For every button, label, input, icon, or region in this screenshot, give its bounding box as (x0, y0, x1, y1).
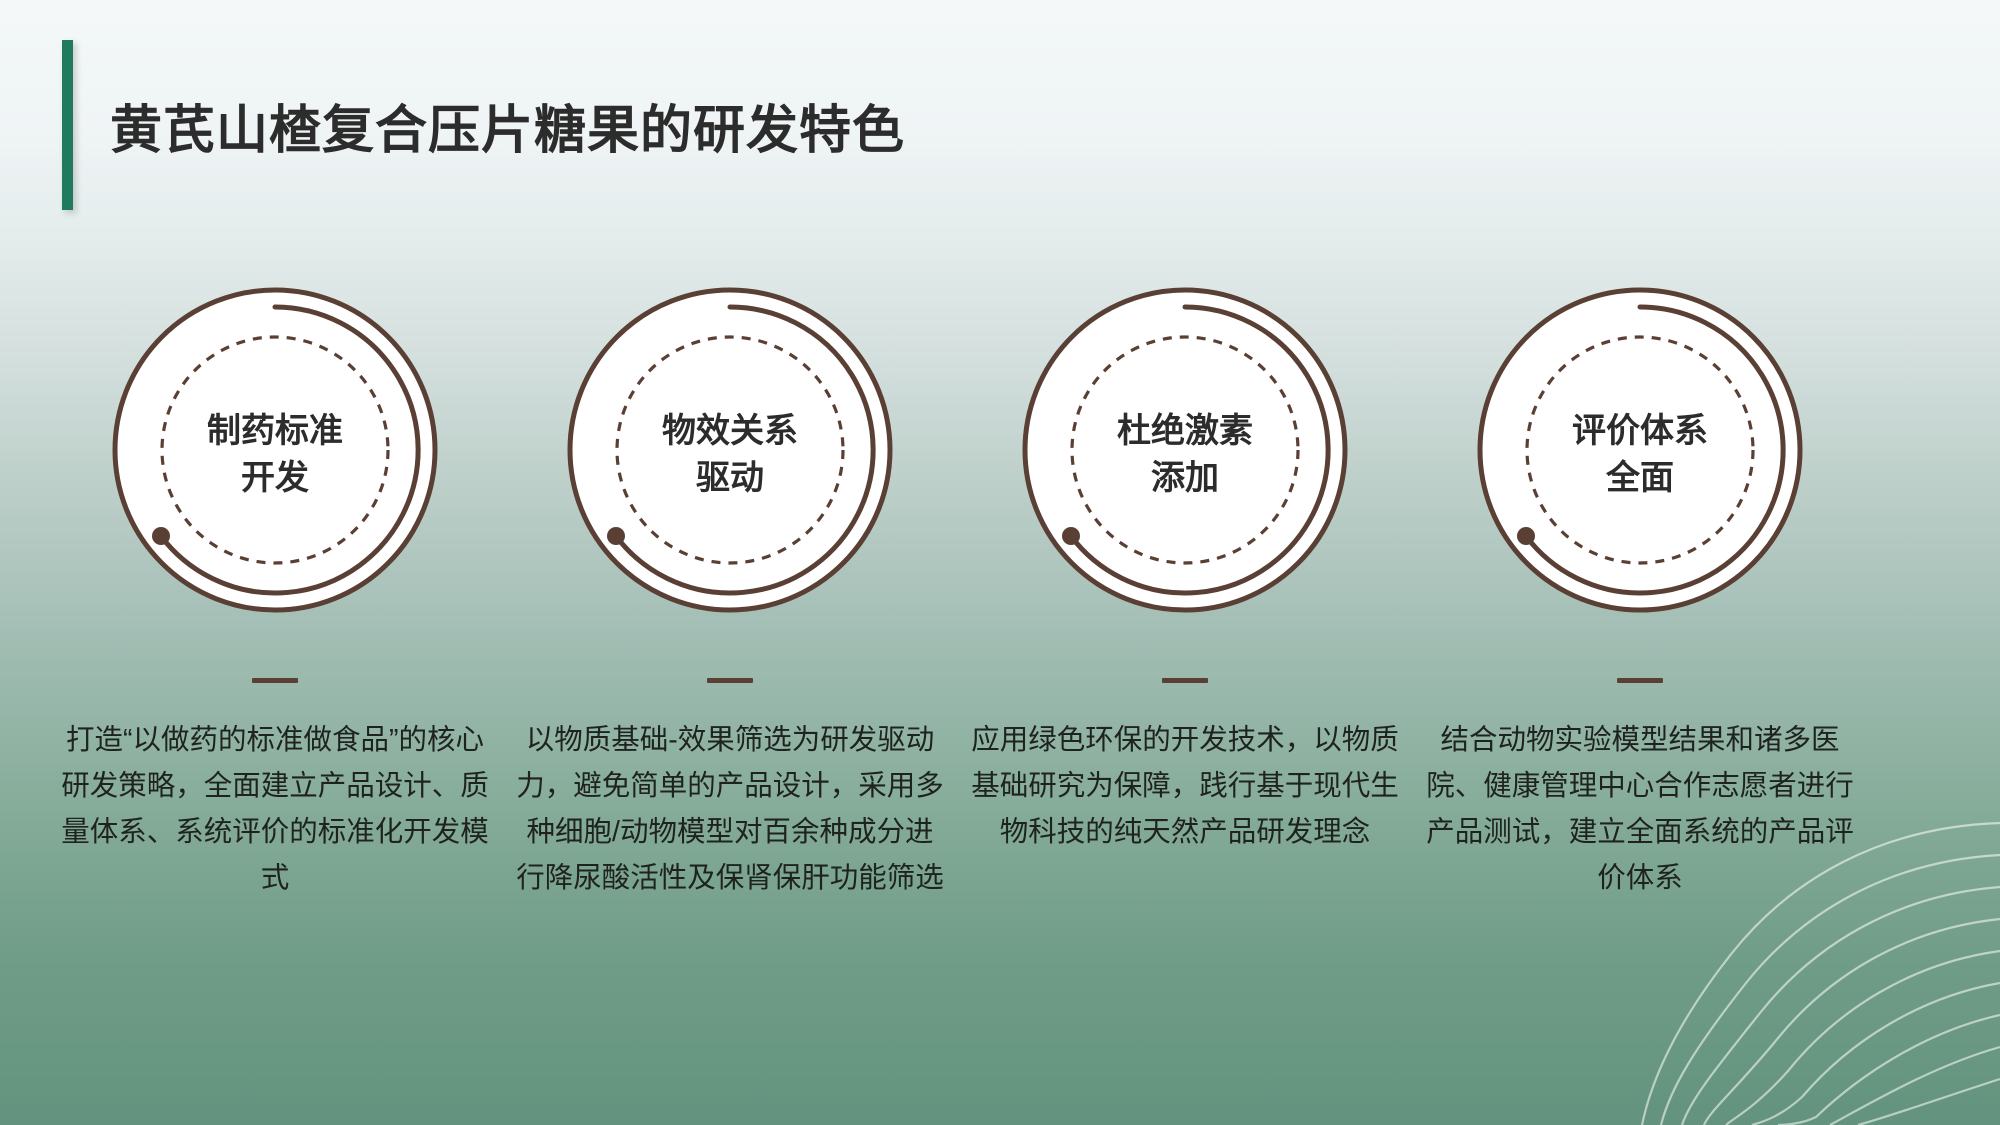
feature-column-2: 物效关系 驱动 以物质基础-效果筛选为研发驱动力，避免简单的产品设计，采用多种细… (510, 280, 950, 902)
feature-description-1: 打造“以做药的标准做食品”的核心研发策略，全面建立产品设计、质量体系、系统评价的… (55, 717, 495, 902)
feature-circle-graphic-3: 杜绝激素 添加 (980, 280, 1390, 640)
feature-column-4: 评价体系 全面 结合动物实验模型结果和诸多医院、健康管理中心合作志愿者进行产品测… (1420, 280, 1860, 902)
concentric-circles-icon (560, 280, 900, 620)
feature-circle-graphic-2: 物效关系 驱动 (525, 280, 935, 640)
feature-circle-graphic-1: 制药标准 开发 (70, 280, 480, 640)
slide-canvas: 黄芪山楂复合压片糖果的研发特色 制药标准 开发 打造“以做药的标准做食品”的核心… (0, 0, 2000, 1125)
feature-divider-4 (1617, 678, 1663, 683)
concentric-circles-icon (1470, 280, 1810, 620)
feature-divider-1 (252, 678, 298, 683)
title-accent-bar (62, 40, 73, 210)
feature-description-2: 以物质基础-效果筛选为研发驱动力，避免简单的产品设计，采用多种细胞/动物模型对百… (510, 717, 950, 902)
feature-divider-3 (1162, 678, 1208, 683)
feature-circle-graphic-4: 评价体系 全面 (1435, 280, 1845, 640)
feature-description-4: 结合动物实验模型结果和诸多医院、健康管理中心合作志愿者进行产品测试，建立全面系统… (1420, 717, 1860, 902)
concentric-circles-icon (1015, 280, 1355, 620)
feature-description-3: 应用绿色环保的开发技术，以物质基础研究为保障，践行基于现代生物科技的纯天然产品研… (965, 717, 1405, 855)
feature-column-3: 杜绝激素 添加 应用绿色环保的开发技术，以物质基础研究为保障，践行基于现代生物科… (965, 280, 1405, 855)
feature-column-1: 制药标准 开发 打造“以做药的标准做食品”的核心研发策略，全面建立产品设计、质量… (55, 280, 495, 902)
page-title: 黄芪山楂复合压片糖果的研发特色 (110, 88, 905, 163)
feature-divider-2 (707, 678, 753, 683)
concentric-circles-icon (105, 280, 445, 620)
